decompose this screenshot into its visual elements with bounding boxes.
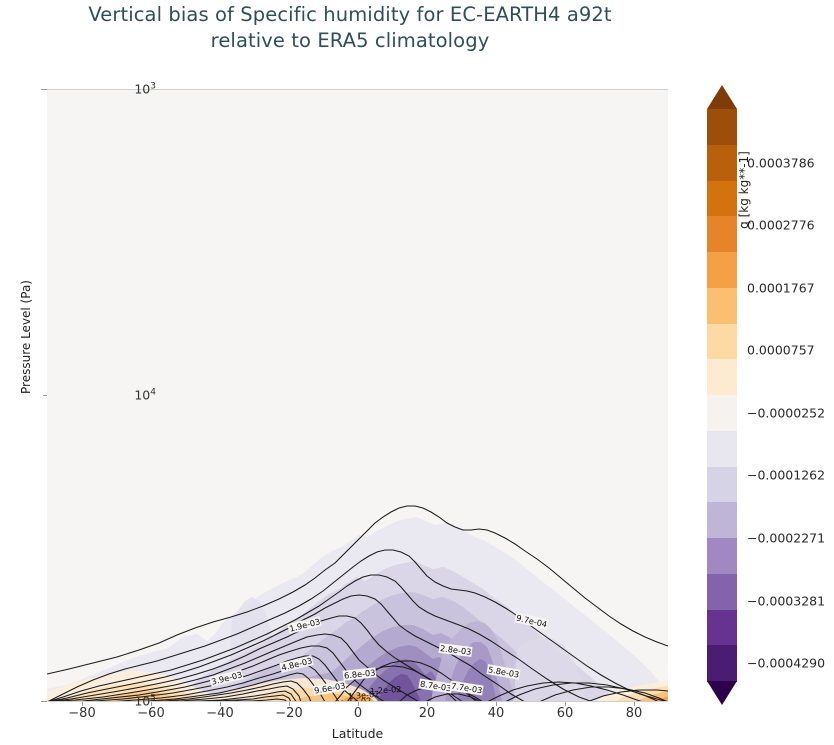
y-tick-label-1000: 103 (134, 81, 156, 96)
x-tick-mark (220, 702, 221, 706)
title-line-1: Vertical bias of Specific humidity for E… (0, 2, 700, 28)
colorbar-band (707, 288, 737, 324)
x-tick-label: −40 (206, 706, 233, 721)
colorbar-tick-label: −0.0003281 (747, 593, 825, 608)
colorbar-band (707, 181, 737, 217)
x-tick-mark (565, 702, 566, 706)
colorbar-tick-label: −0.0001262 (747, 468, 825, 483)
y-axis-label: Pressure Level (Pa) (19, 237, 33, 437)
x-tick-mark (358, 702, 359, 706)
colorbar-band (707, 538, 737, 574)
y-tick-label-10000: 104 (134, 387, 156, 402)
colorbar-band (707, 324, 737, 360)
x-tick-mark (496, 702, 497, 706)
colorbar-band (707, 145, 737, 181)
colorbar-band (707, 645, 737, 681)
colorbar-tick-label: −0.0002271 (747, 531, 825, 546)
colorbar-tick-label: 0.0002776 (747, 218, 815, 233)
y-tick-mark (41, 89, 47, 90)
colorbar-band (707, 216, 737, 252)
colorbar-band (707, 359, 737, 395)
x-tick-label: 80 (626, 706, 643, 721)
colorbar-tick-label: 0.0001767 (747, 280, 815, 295)
colorbar-band (707, 610, 737, 646)
colorbar-extend-max-arrow (707, 85, 737, 109)
colorbar-tick-label: −0.0004290 (747, 656, 825, 671)
x-axis-label: Latitude (47, 726, 668, 741)
colorbar-axis-label: q [kg kg**-1] (737, 80, 751, 300)
y-tick-mark (43, 395, 47, 396)
x-tick-label: 40 (488, 706, 505, 721)
x-tick-mark (634, 702, 635, 706)
colorbar-band (707, 574, 737, 610)
x-tick-label: −60 (137, 706, 164, 721)
x-tick-label: −20 (275, 706, 302, 721)
colorbar-tick-label: −0.0000252 (747, 405, 825, 420)
colorbar-tick-label: 0.0003786 (747, 155, 815, 170)
x-tick-mark (289, 702, 290, 706)
colorbar-band (707, 502, 737, 538)
colorbar-tick-label: 0.0000757 (747, 343, 815, 358)
x-tick-label: 60 (557, 706, 574, 721)
title-line-2: relative to ERA5 climatology (0, 28, 700, 54)
x-tick-mark (82, 702, 83, 706)
y-tick-mark (41, 701, 47, 702)
colorbar-band (707, 252, 737, 288)
colorbar-band (707, 467, 737, 503)
x-tick-mark (151, 702, 152, 706)
page-title: Vertical bias of Specific humidity for E… (0, 2, 700, 54)
colorbar-extend-min-arrow (707, 681, 737, 705)
colorbar-band (707, 395, 737, 431)
colorbar-band (707, 431, 737, 467)
x-tick-label: 20 (419, 706, 436, 721)
colorbar: 0.00037860.00027760.00017670.0000757−0.0… (707, 85, 737, 705)
x-tick-label: 0 (354, 706, 362, 721)
x-tick-label: −80 (68, 706, 95, 721)
colorbar-band (707, 109, 737, 145)
x-tick-mark (427, 702, 428, 706)
